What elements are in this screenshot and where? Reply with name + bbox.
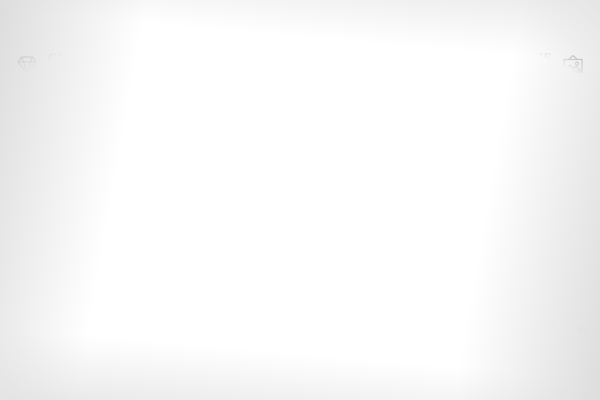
- divider: [14, 198, 164, 199]
- feature-durable-handle: DUURZAME HANDGREEP Eenvoudige installati…: [446, 52, 586, 108]
- mechanism-detail: [357, 184, 365, 192]
- ultra-hd-icon: ultra HD: [14, 169, 40, 193]
- hour-tick: [233, 117, 236, 132]
- feature-description: Bestand tegen breuk en krassen: [14, 87, 154, 108]
- feature-polished-edges: GESLEPEN RANDEN Gladde en veilige afwerk…: [14, 281, 166, 326]
- glass-grid-line: [185, 111, 186, 281]
- foam-spacer-pad: [369, 242, 384, 257]
- feature-description: Maakt het behouden van een gelijke afsta…: [416, 311, 586, 332]
- feature-tempered-glass: GEHARD GLAS Bestand tegen breuk en krass…: [14, 52, 154, 108]
- divider: [416, 306, 586, 307]
- diamond-icon: [14, 53, 40, 77]
- glass-wall-clock: [148, 110, 322, 282]
- bevelled-edge-icon: [14, 282, 40, 306]
- feature-high-quality-print: ultra HD HOOGWAARDIGE PRINT Intense kleu…: [14, 168, 164, 224]
- feature-title: DUURZAME HANDGREEP: [473, 52, 552, 78]
- glass-grid-line: [245, 111, 246, 281]
- mechanism-detail: [368, 175, 375, 182]
- svg-text:HD: HD: [21, 180, 33, 189]
- mechanism-detail: [378, 175, 388, 181]
- divider: [14, 311, 166, 312]
- hour-tick: [298, 194, 313, 197]
- clock-mechanism: [352, 170, 393, 208]
- feature-title: GEHARD GLAS: [48, 52, 102, 78]
- hour-tick: [233, 260, 236, 275]
- mechanism-hanger-hook: [367, 165, 383, 174]
- glass-grid-line: [149, 141, 321, 142]
- battery-plus-terminal: [381, 193, 388, 202]
- feature-description: Gladde en veilige afwerking: [14, 316, 166, 326]
- feature-title: STILLE MECHANISME: [464, 168, 552, 194]
- feature-foam-spacer: SCHUIMAF- STANDHOUDER Maakt het behouden…: [416, 276, 586, 332]
- hour-tick: [195, 249, 205, 263]
- clock-hands-hub: [232, 193, 237, 198]
- mechanism-detail: [369, 184, 377, 192]
- feature-silent-mechanism: STILLE MECHANISME Geruisloze wijzers van…: [446, 168, 586, 224]
- mechanism-detail: [381, 185, 388, 191]
- feature-title: GESLEPEN RANDEN: [48, 281, 114, 307]
- picture-frame-icon: [560, 53, 586, 77]
- feature-title: SCHUIMAF- STANDHOUDER: [457, 276, 552, 302]
- divider: [14, 82, 154, 83]
- divider: [446, 82, 586, 83]
- press-down-icon: [560, 277, 586, 301]
- infographic-canvas: GEHARD GLAS Bestand tegen breuk en krass…: [0, 0, 600, 400]
- aa-battery: [355, 195, 390, 205]
- mechanism-detail: [356, 175, 365, 182]
- gear-icon: [560, 169, 586, 193]
- feature-description: Geruisloze wijzers van de klok: [446, 203, 586, 224]
- divider: [446, 198, 586, 199]
- feature-description: Intense kleuren en een duidelijk beeld: [14, 203, 164, 224]
- feature-title: HOOGWAARDIGE PRINT: [48, 168, 156, 194]
- feature-description: Eenvoudige installatie van de klok aan d…: [446, 87, 586, 108]
